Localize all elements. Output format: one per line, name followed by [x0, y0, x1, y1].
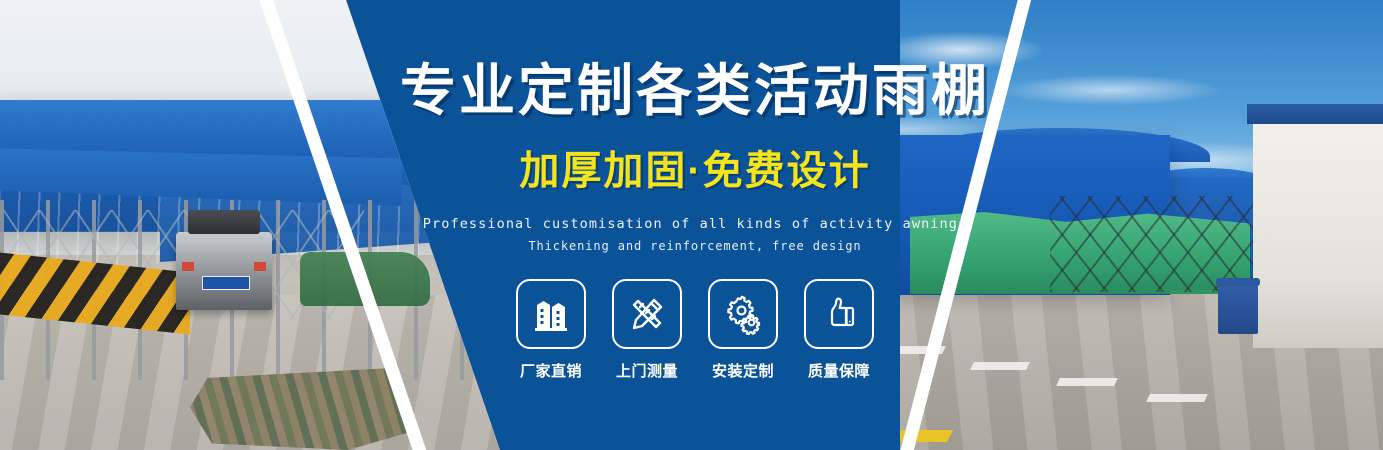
subtitle: 加厚加固·免费设计 [519, 138, 870, 196]
feature-label: 上门测量 [616, 360, 678, 381]
thumbs-up-icon [804, 279, 874, 349]
english-tagline-primary: Professional customisation of all kinds … [423, 216, 967, 232]
feature-item-on-site-measure[interactable]: 上门测量 [611, 279, 683, 381]
feature-item-install-custom[interactable]: 安装定制 [707, 279, 779, 381]
feature-item-factory-direct[interactable]: 厂家直销 [515, 279, 587, 381]
banner-content: 专业定制各类活动雨棚 加厚加固·免费设计 Professional custom… [345, 0, 1045, 450]
road-marking [1146, 394, 1208, 402]
side-building [1253, 118, 1383, 348]
pencil-ruler-icon [612, 279, 682, 349]
building-icon [516, 279, 586, 349]
english-tagline-secondary: Thickening and reinforcement, free desig… [528, 239, 861, 253]
feature-label: 厂家直销 [520, 360, 582, 381]
feature-label: 质量保障 [808, 360, 870, 381]
page-title: 专业定制各类活动雨棚 [400, 60, 990, 122]
truck-taillight-right [254, 262, 266, 271]
trash-bin [1218, 284, 1258, 334]
truck-license-plate [202, 276, 250, 290]
gears-icon [708, 279, 778, 349]
parked-truck [176, 232, 272, 310]
promo-banner: 专业定制各类活动雨棚 加厚加固·免费设计 Professional custom… [0, 0, 1383, 450]
feature-label: 安装定制 [712, 360, 774, 381]
truck-taillight-left [182, 262, 194, 271]
feature-item-quality-guarantee[interactable]: 质量保障 [803, 279, 875, 381]
road-marking [1056, 378, 1118, 386]
feature-list: 厂家直销 上门测量 [515, 279, 875, 381]
